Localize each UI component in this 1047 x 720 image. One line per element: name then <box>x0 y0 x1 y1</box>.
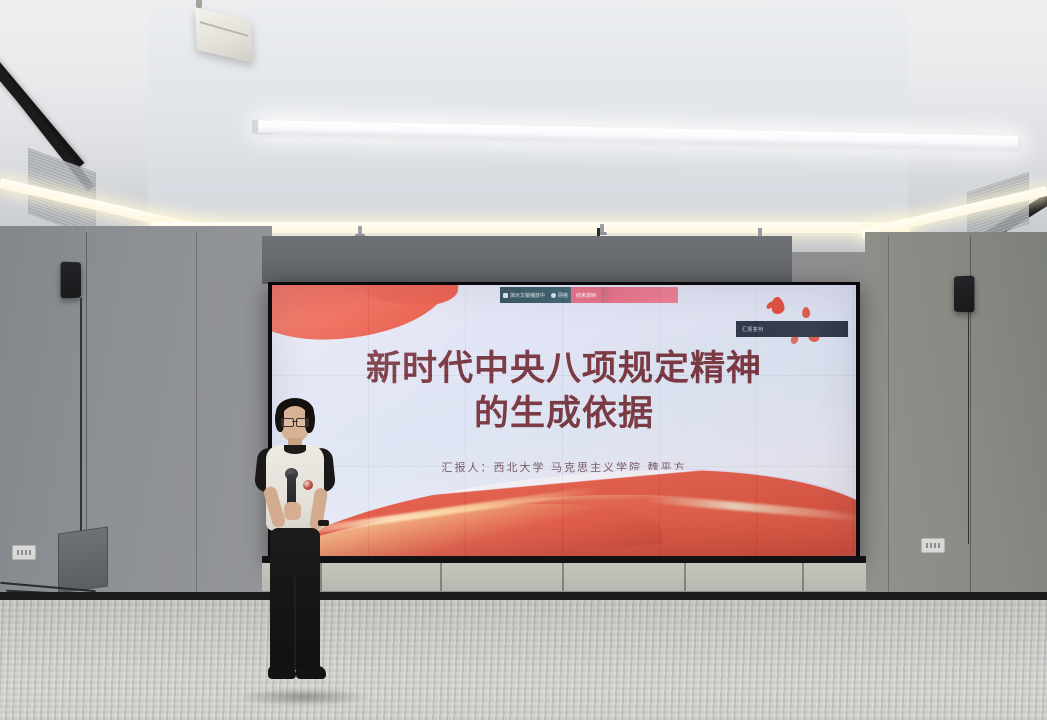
presenter-shoe-left <box>268 666 296 679</box>
wall-above-screen <box>262 236 792 284</box>
under-panel-seam-3 <box>562 563 564 591</box>
under-panel-seam-2 <box>440 563 442 591</box>
speaker-cable-left <box>80 298 82 550</box>
presenter-leg-seam <box>294 576 296 670</box>
carpet-texture <box>0 600 1047 720</box>
floor-carpet <box>0 600 1047 720</box>
presenter-shoe-right <box>296 666 326 679</box>
wall-outlet-left <box>12 545 36 560</box>
led-panel-seams-horizontal <box>272 285 856 556</box>
speaker-cable-right <box>968 312 970 544</box>
wristwatch-icon <box>318 520 329 526</box>
presenter <box>246 398 342 698</box>
wall-panel-seam-right-2 <box>888 236 889 596</box>
conference-room-photo: 演示文稿播放中 网络 结束放映 汇报答辩 新时代中央八项规定精神 的生成依据 汇… <box>0 0 1047 720</box>
wall-panel-seam-left-2 <box>196 232 197 596</box>
wall-outlet-right <box>921 538 945 553</box>
wall-left <box>0 226 272 600</box>
under-panel-seam-4 <box>684 563 686 591</box>
presenter-collar <box>284 445 306 454</box>
glasses-icon <box>281 418 309 425</box>
outlet-slots-icon <box>17 550 31 555</box>
outlet-slots-icon-right <box>926 543 940 548</box>
under-screen-panels <box>262 563 866 591</box>
screen-bottom-bezel <box>262 556 866 563</box>
wall-speaker-right <box>954 276 974 313</box>
under-panel-seam-5 <box>802 563 804 591</box>
sprinkler-head-center <box>600 224 604 235</box>
presenter-hand <box>284 502 301 520</box>
shirt-logo <box>303 480 313 490</box>
led-screen-display[interactable]: 演示文稿播放中 网络 结束放映 汇报答辩 新时代中央八项规定精神 的生成依据 汇… <box>272 285 856 556</box>
ceiling-inner-panel <box>148 0 908 236</box>
wall-speaker-left <box>61 262 81 299</box>
